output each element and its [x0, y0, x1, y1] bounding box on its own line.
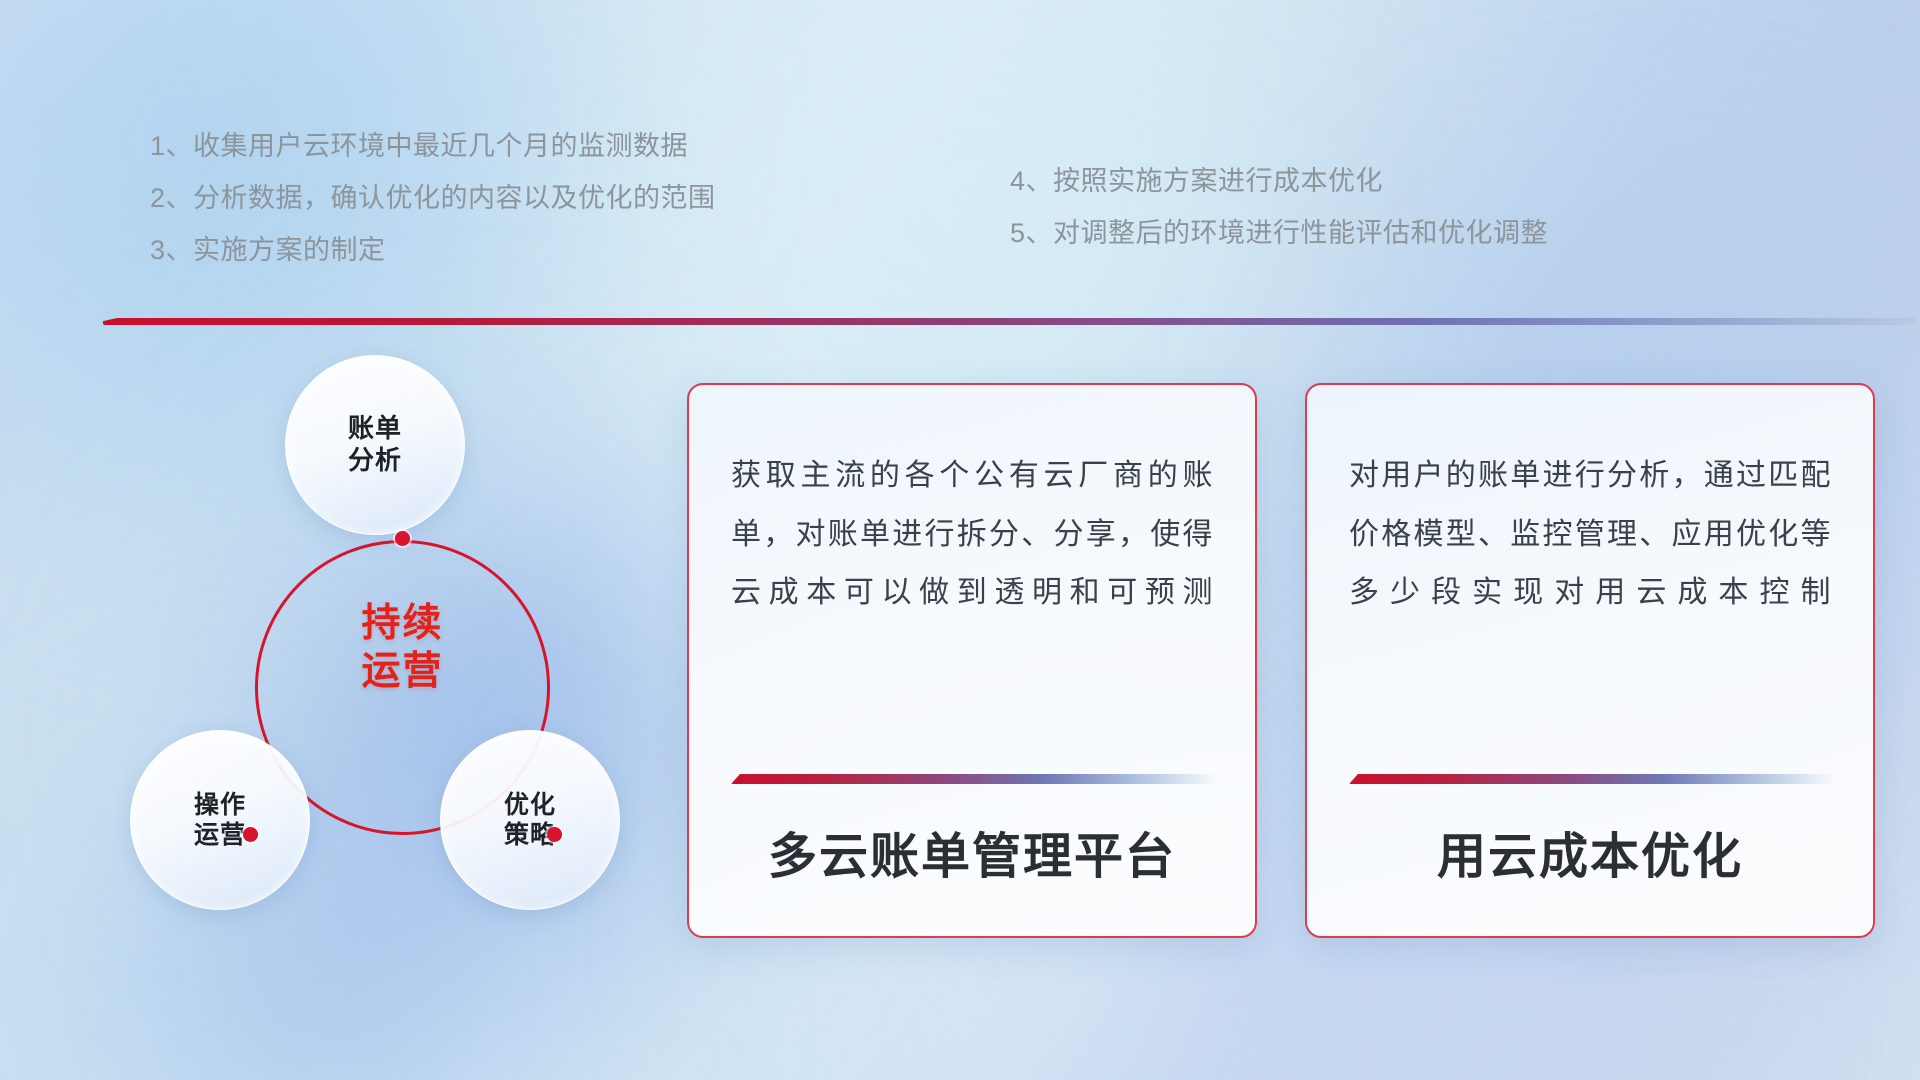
info-card-bill-platform-title: 多云账单管理平台 [689, 817, 1255, 888]
info-card-cost-optimization-title: 用云成本优化 [1307, 817, 1873, 888]
info-card-bill-platform-divider [731, 774, 1217, 784]
cycle-node-bill-analysis[interactable]: 账单 分析 [285, 355, 465, 535]
steps-list-left: 1、收集用户云环境中最近几个月的监测数据 2、分析数据，确认优化的内容以及优化的… [150, 120, 716, 276]
cycle-center-label: 持续 运营 [255, 600, 550, 695]
cycle-diagram: 持续 运营 账单 分析 操作 运营 优化 策略 [90, 345, 650, 965]
cycle-node-operations-line1: 操作 [194, 790, 246, 821]
cycle-connector-dot-left [243, 827, 258, 842]
step-item-1: 1、收集用户云环境中最近几个月的监测数据 [150, 120, 716, 172]
info-card-bill-platform[interactable]: 获取主流的各个公有云厂商的账单，对账单进行拆分、分享，使得云成本可以做到透明和可… [687, 383, 1257, 938]
cycle-node-operations[interactable]: 操作 运营 [130, 730, 310, 910]
step-item-4: 4、按照实施方案进行成本优化 [1010, 155, 1548, 207]
info-card-cost-optimization-body: 对用户的账单进行分析，通过匹配价格模型、监控管理、应用优化等多少段实现对用云成本… [1349, 447, 1831, 623]
cycle-node-optimization-strategy-line1: 优化 [504, 790, 556, 821]
cycle-node-operations-line2: 运营 [194, 820, 246, 851]
step-item-5: 5、对调整后的环境进行性能评估和优化调整 [1010, 207, 1548, 259]
cycle-node-optimization-strategy[interactable]: 优化 策略 [440, 730, 620, 910]
cycle-node-bill-analysis-line2: 分析 [348, 445, 402, 477]
section-divider-rule [103, 318, 1916, 325]
step-item-3: 3、实施方案的制定 [150, 224, 716, 276]
cycle-center-label-line2: 运营 [255, 648, 550, 696]
cycle-node-bill-analysis-line1: 账单 [348, 413, 402, 445]
info-card-cost-optimization[interactable]: 对用户的账单进行分析，通过匹配价格模型、监控管理、应用优化等多少段实现对用云成本… [1305, 383, 1875, 938]
info-card-bill-platform-body: 获取主流的各个公有云厂商的账单，对账单进行拆分、分享，使得云成本可以做到透明和可… [731, 447, 1213, 623]
cycle-connector-dot-right [547, 827, 562, 842]
cycle-center-label-line1: 持续 [255, 600, 550, 648]
steps-list-right: 4、按照实施方案进行成本优化 5、对调整后的环境进行性能评估和优化调整 [1010, 155, 1548, 259]
cycle-connector-dot-top [395, 531, 410, 546]
step-item-2: 2、分析数据，确认优化的内容以及优化的范围 [150, 172, 716, 224]
info-card-cost-optimization-divider [1349, 774, 1835, 784]
